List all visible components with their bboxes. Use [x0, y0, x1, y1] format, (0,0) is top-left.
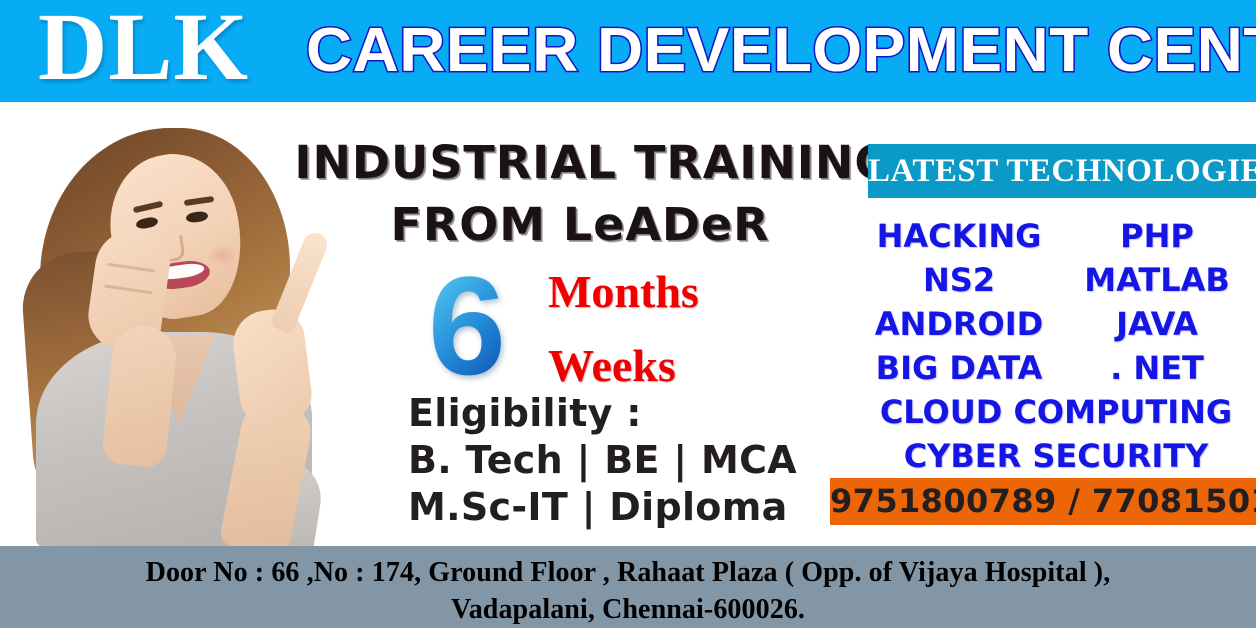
advertisement-banner: DLK CAREER DEVELOPMENT CENTER: [0, 0, 1256, 628]
banner-header: DLK CAREER DEVELOPMENT CENTER: [0, 0, 1256, 102]
address-footer: Door No : 66 ,No : 174, Ground Floor , R…: [0, 546, 1256, 628]
technology-item-big-data: BIG DATA: [856, 346, 1062, 390]
technology-row: CLOUD COMPUTING: [856, 390, 1256, 434]
technology-row: HACKING PHP: [856, 214, 1256, 258]
duration-number: 6: [428, 256, 506, 396]
technology-item-php: PHP: [1062, 214, 1252, 258]
duration-weeks-label: Weeks: [548, 342, 676, 390]
duration-months-label: Months: [548, 268, 699, 316]
brand-tagline: CAREER DEVELOPMENT CENTER: [306, 10, 1256, 92]
banner-body: INDUSTRIAL TRAINING FROM LeADeR 6 Months…: [0, 102, 1256, 546]
technology-item-cloud-computing: CLOUD COMPUTING: [856, 390, 1256, 434]
headline: INDUSTRIAL TRAINING FROM LeADeR: [294, 132, 865, 256]
technology-item-dotnet: . NET: [1062, 346, 1252, 390]
technology-row: BIG DATA . NET: [856, 346, 1256, 390]
latest-technologies-title: LATEST TECHNOLOGIES: [868, 144, 1256, 198]
student-photo: [0, 102, 350, 546]
eligibility-line-2: M.Sc-IT | Diploma: [408, 484, 797, 531]
technology-item-hacking: HACKING: [856, 214, 1062, 258]
headline-line-1: INDUSTRIAL TRAINING: [294, 136, 893, 189]
contact-phone-numbers: 9751800789 / 7708150152: [830, 478, 1256, 525]
eligibility-heading: Eligibility :: [408, 390, 797, 437]
photo-cheek-blush: [207, 244, 237, 266]
technology-item-java: JAVA: [1062, 302, 1252, 346]
technology-item-android: ANDROID: [856, 302, 1062, 346]
headline-line-2: FROM LeADeR: [294, 194, 865, 256]
technology-row: CYBER SECURITY: [856, 434, 1256, 478]
technology-row: ANDROID JAVA: [856, 302, 1256, 346]
technology-item-cyber-security: CYBER SECURITY: [856, 434, 1256, 478]
address-line-1: Door No : 66 ,No : 174, Ground Floor , R…: [0, 554, 1256, 591]
eligibility-line-1: B. Tech | BE | MCA: [408, 437, 797, 484]
technology-item-matlab: MATLAB: [1062, 258, 1252, 302]
technology-row: NS2 MATLAB: [856, 258, 1256, 302]
address-line-2: Vadapalani, Chennai-600026.: [0, 591, 1256, 628]
brand-logo-text: DLK: [38, 0, 249, 98]
eligibility-block: Eligibility : B. Tech | BE | MCA M.Sc-IT…: [408, 390, 797, 531]
technologies-list: HACKING PHP NS2 MATLAB ANDROID JAVA BIG …: [856, 214, 1256, 478]
technology-item-ns2: NS2: [856, 258, 1062, 302]
